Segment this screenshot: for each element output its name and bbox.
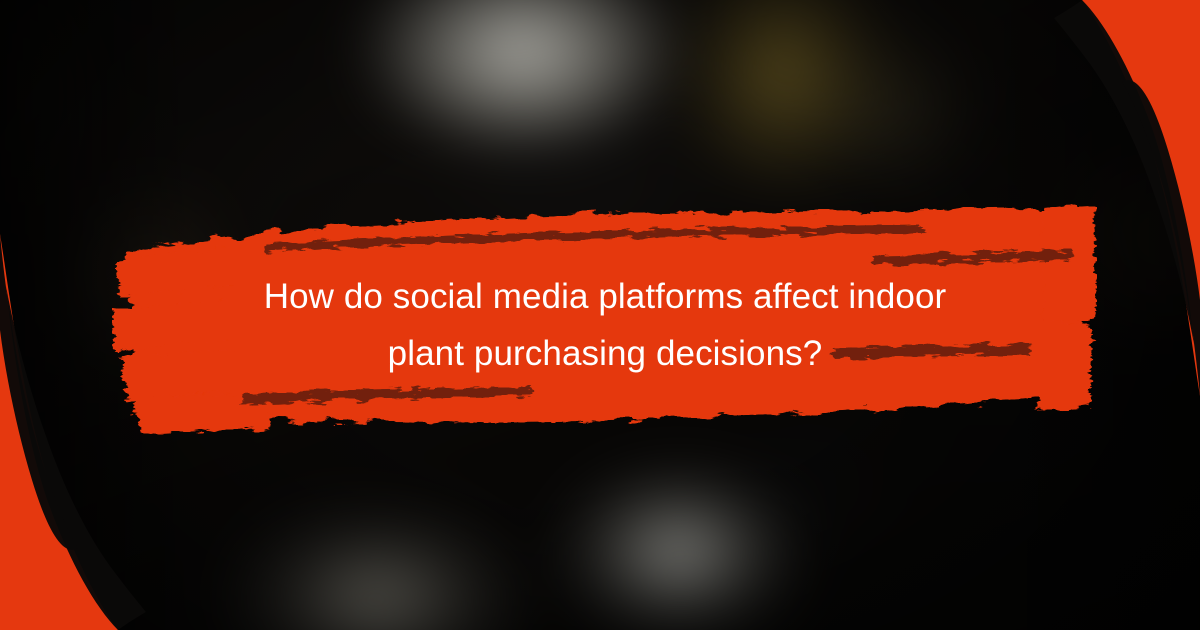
page-title: How do social media platforms affect ind… — [150, 268, 1060, 382]
question-card: How do social media platforms affect ind… — [0, 0, 1200, 630]
